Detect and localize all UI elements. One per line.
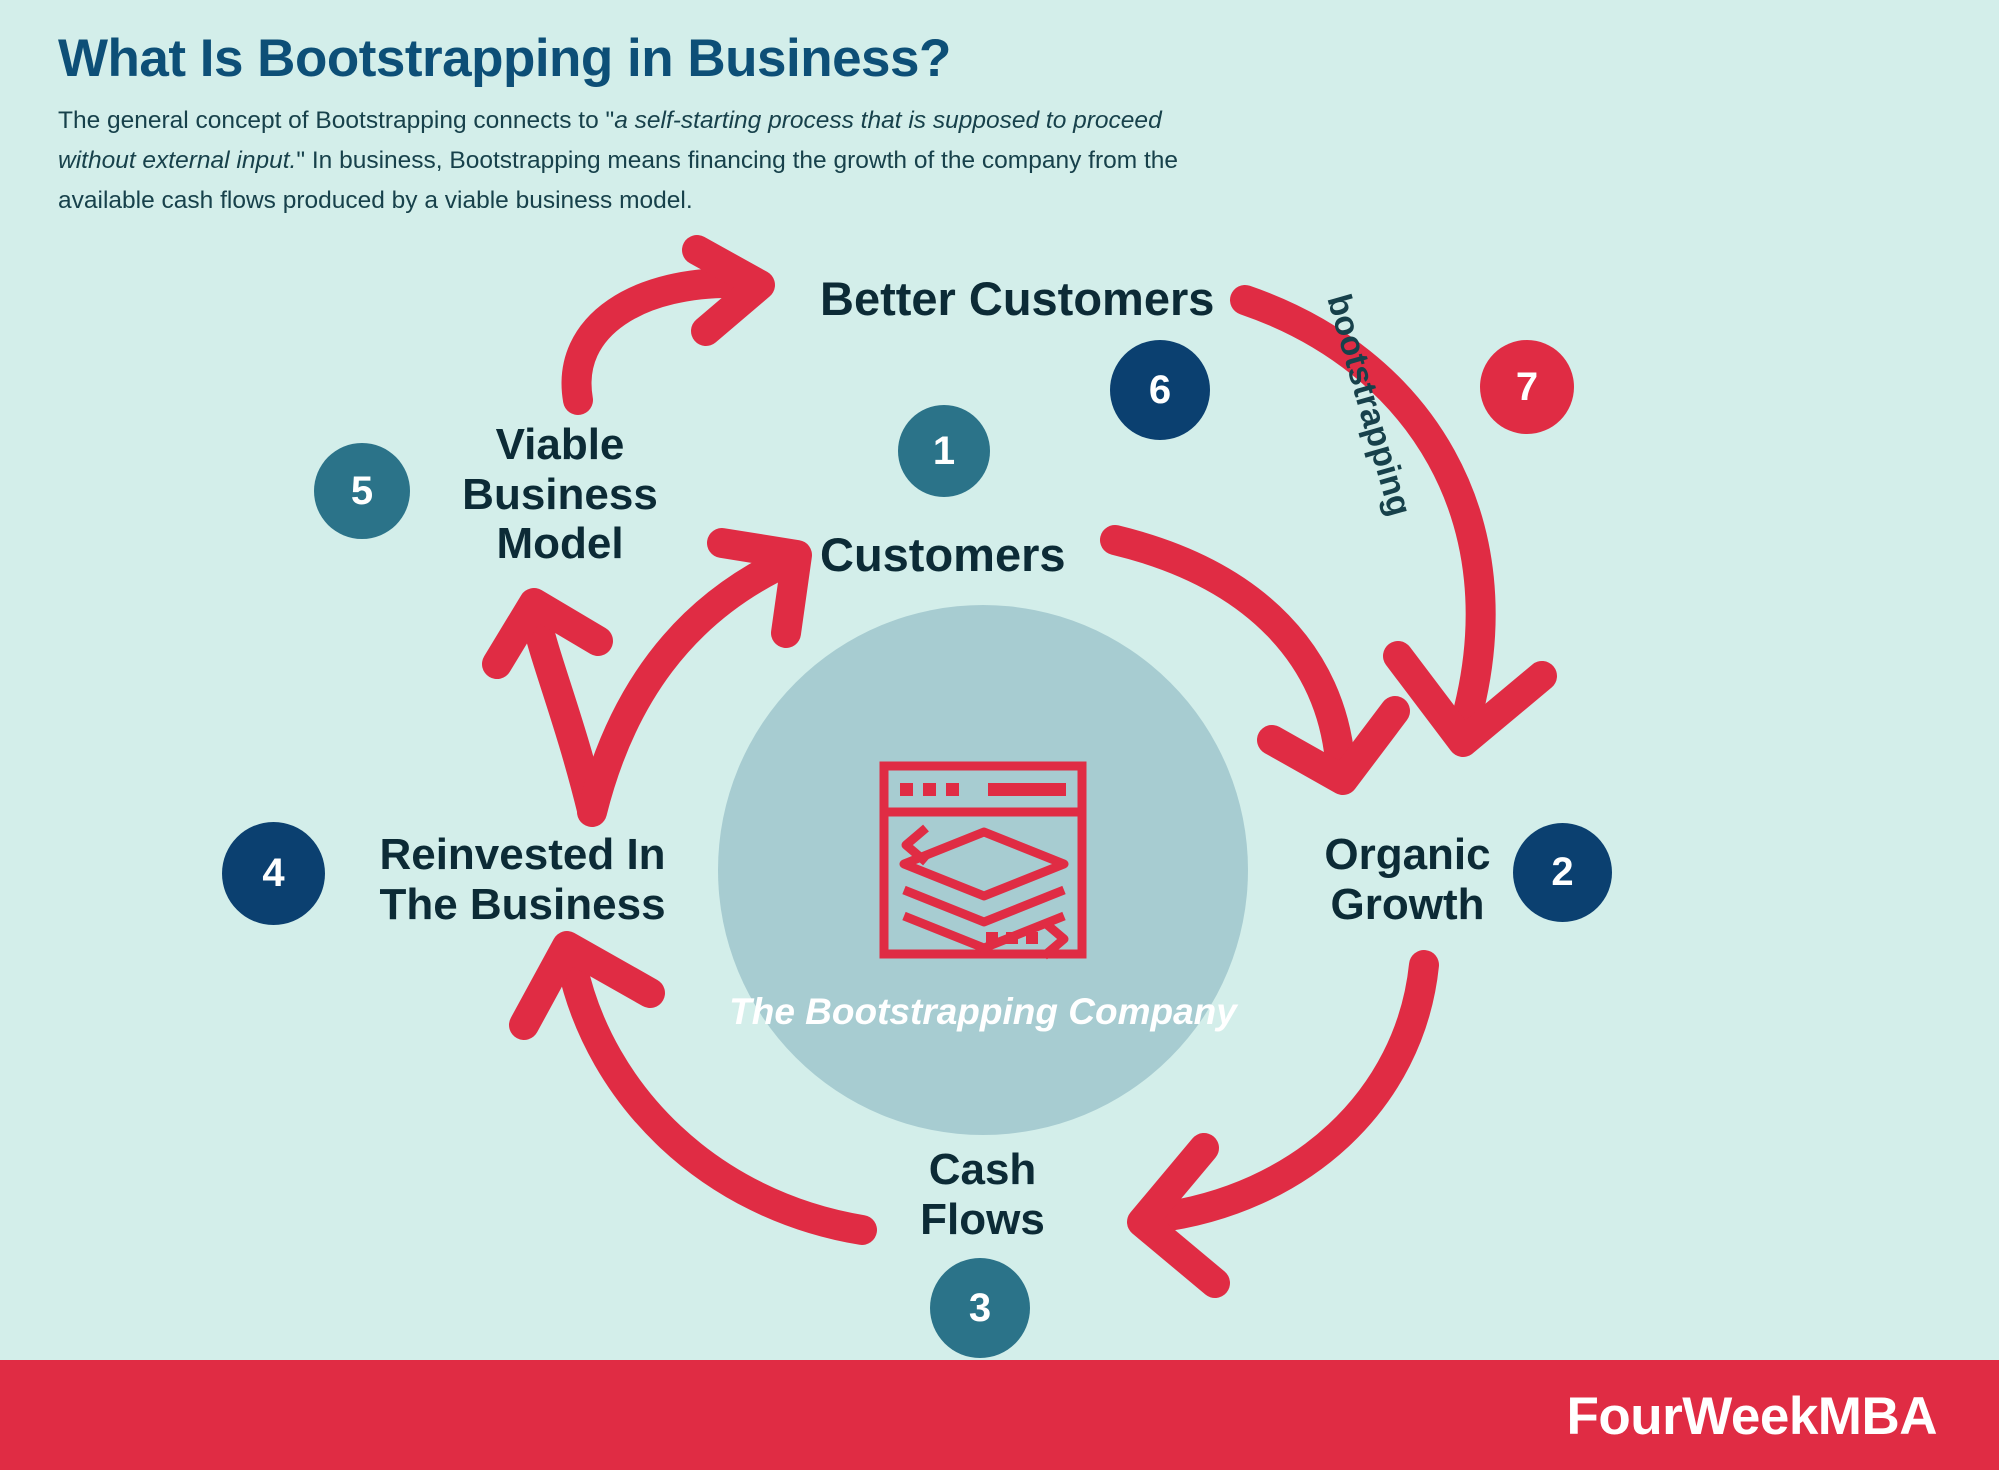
arrow-customers-to-organic (1115, 540, 1340, 760)
step-badge-4: 4 (222, 822, 325, 925)
browser-layers-code-icon (878, 760, 1088, 960)
step-badge-1: 1 (898, 405, 990, 497)
fourweekmba-logo: FourWeekMBA (1567, 1386, 1937, 1447)
node-label-better-customers: Better Customers (820, 272, 1214, 325)
step-badge-2: 2 (1513, 823, 1612, 922)
step-badge-3: 3 (930, 1258, 1030, 1358)
footer-bar: FourWeekMBA (0, 1360, 1999, 1470)
node-label-customers: Customers (820, 528, 1066, 581)
infographic-canvas: What Is Bootstrapping in Business? The g… (0, 0, 1999, 1470)
node-label-cash-flows: Cash Flows (895, 1145, 1070, 1244)
center-label: The Bootstrapping Company (718, 990, 1248, 1034)
node-label-viable-business-model: Viable Business Model (455, 420, 665, 569)
node-label-organic-growth: Organic Growth (1300, 830, 1515, 929)
step-badge-6: 6 (1110, 340, 1210, 440)
step-badge-5: 5 (314, 443, 410, 539)
step-badge-7: 7 (1480, 340, 1574, 434)
node-label-reinvested-in-the-business: Reinvested In The Business (350, 830, 695, 929)
bootstrapping-cycle-diagram: The Bootstrapping Company Better Custome… (0, 0, 1999, 1360)
arrow-reinvested-to-customers (592, 560, 790, 812)
